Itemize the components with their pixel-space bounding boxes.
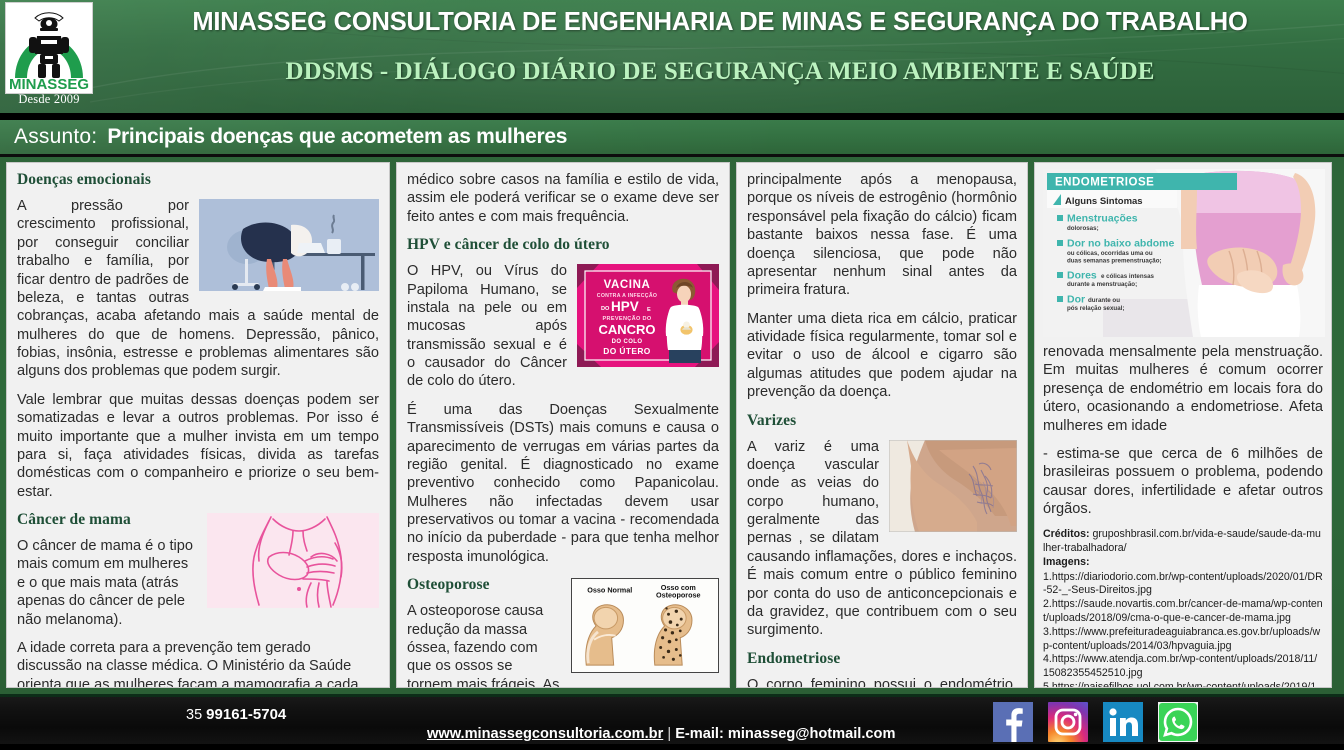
minasseg-logo: MINASSEG (5, 2, 93, 94)
svg-text:VACINA: VACINA (604, 279, 651, 291)
svg-text:Dor no baixo abdome: Dor no baixo abdome (1067, 238, 1175, 250)
column-2: médico sobre casos na família e estilo d… (396, 162, 730, 688)
svg-text:ENDOMETRIOSE: ENDOMETRIOSE (1055, 177, 1154, 189)
svg-text:CONTRA A INFECÇÃO: CONTRA A INFECÇÃO (597, 292, 657, 299)
footer-phone: 35 99161-5704 (186, 706, 286, 723)
svg-text:Alguns Sintomas: Alguns Sintomas (1065, 196, 1143, 207)
linkedin-icon[interactable] (1103, 702, 1143, 742)
col2-paragraph-3: É uma das Doenças Sexualmente Transmissí… (407, 401, 719, 566)
credits-label: Créditos: (1043, 528, 1090, 540)
col2-paragraph-1: médico sobre casos na família e estilo d… (407, 171, 719, 226)
image-source-item: 5.https://paisefilhos.uol.com.br/wp-cont… (1043, 681, 1323, 688)
svg-text:durante ou: durante ou (1088, 297, 1120, 304)
image-source-item: 2.https://saude.novartis.com.br/cancer-d… (1043, 598, 1323, 626)
svg-text:Dores: Dores (1067, 270, 1097, 282)
logo-since-label: Desde 2009 (3, 92, 95, 107)
col3-paragraph-4: O corpo feminino possui o endométrio, um… (747, 676, 1017, 688)
email-value[interactable]: minasseg@hotmail.com (728, 726, 896, 742)
images-label: Imagens: (1043, 556, 1323, 570)
column-4: ENDOMETRIOSE Alguns Sintomas Menstruaçõe… (1034, 162, 1332, 688)
varicose-veins-leg-photo (889, 440, 1017, 532)
footer-bottom-strip (0, 744, 1344, 750)
page-header: MINASSEG Desde 2009 MINASSEG CONSULTORIA… (0, 0, 1344, 113)
instagram-icon[interactable] (1048, 702, 1088, 742)
svg-text:ou cólicas, ocorridas uma ou: ou cólicas, ocorridas uma ou (1067, 250, 1153, 257)
image-source-item: 4.https://www.atendja.com.br/wp-content/… (1043, 653, 1323, 681)
svg-text:Osteoporose: Osteoporose (656, 591, 701, 600)
endometriosis-symptoms-infographic: ENDOMETRIOSE Alguns Sintomas Menstruaçõe… (1043, 169, 1325, 337)
svg-text:dolorosas;: dolorosas; (1067, 225, 1099, 232)
image-source-item: 1.https://diariodorio.com.br/wp-content/… (1043, 571, 1323, 599)
content-columns: Doenças emocionais (0, 157, 1344, 694)
col4-paragraph-2: - estima-se que cerca de 6 milhões de br… (1043, 445, 1323, 519)
svg-text:e cólicas intensas: e cólicas intensas (1101, 273, 1155, 280)
stressed-woman-at-desk-illustration (199, 199, 379, 291)
website-link[interactable]: www.minassegconsultoria.com.br (427, 726, 663, 742)
heading-hpv-cancer-colo-utero: HPV e câncer de colo do útero (407, 236, 719, 254)
ddsms-poster: MINASSEG Desde 2009 MINASSEG CONSULTORIA… (0, 0, 1344, 756)
svg-text:PREVENÇÃO DO: PREVENÇÃO DO (603, 315, 652, 322)
hpv-vaccine-poster-image: VACINA CONTRA A INFECÇÃO DO HPV E PREVEN… (577, 264, 719, 367)
logo-wordmark: MINASSEG (9, 76, 89, 92)
phone-prefix: 35 (186, 707, 202, 723)
subject-label: Assunto: (14, 125, 97, 149)
svg-text:E: E (647, 307, 651, 313)
svg-text:duas semanas premenstruação;: duas semanas premenstruação; (1067, 258, 1162, 265)
credits-line: Créditos: gruposhbrasil.com.br/vida-e-sa… (1043, 528, 1323, 556)
svg-text:DO: DO (601, 306, 610, 312)
subject-value: Principais doenças que acometem as mulhe… (107, 125, 567, 149)
image-sources-list: 1.https://diariodorio.com.br/wp-content/… (1043, 571, 1323, 688)
image-source-item: 3.https://www.prefeituradeaguiabranca.es… (1043, 626, 1323, 654)
page-footer: 35 99161-5704 www.minassegconsultoria.co… (0, 694, 1344, 750)
whatsapp-icon[interactable] (1158, 702, 1198, 742)
heading-doencas-emocionais: Doenças emocionais (17, 171, 379, 189)
header-divider (0, 113, 1344, 120)
phone-number: 99161-5704 (206, 706, 286, 723)
social-links (993, 702, 1198, 742)
svg-text:DO COLO: DO COLO (612, 339, 643, 345)
heading-endometriose: Endometriose (747, 650, 1017, 668)
column-1: Doenças emocionais (6, 162, 390, 688)
page-title: MINASSEG CONSULTORIA DE ENGENHARIA DE MI… (104, 8, 1336, 37)
col4-paragraph-1: renovada mensalmente pela menstruação. E… (1043, 343, 1323, 435)
facebook-icon[interactable] (993, 702, 1033, 742)
footer-separator: | (667, 726, 671, 742)
heading-varizes: Varizes (747, 412, 1017, 430)
col1-paragraph-4: A idade correta para a prevenção tem ger… (17, 639, 379, 688)
osteoporosis-bone-comparison-image: Osso Normal Osso com Osteoporose (571, 578, 719, 673)
svg-text:Osso Normal: Osso Normal (587, 586, 632, 595)
col3-paragraph-1: principalmente após a menopausa, porque … (747, 171, 1017, 300)
credits-block: Créditos: gruposhbrasil.com.br/vida-e-sa… (1043, 528, 1323, 688)
col3-paragraph-2: Manter uma dieta rica em cálcio, pratica… (747, 310, 1017, 402)
subject-bar: Assunto: Principais doenças que acometem… (0, 120, 1344, 157)
page-subtitle: DDSMS - DIÁLOGO DIÁRIO DE SEGURANÇA MEIO… (104, 58, 1336, 86)
svg-text:CANCRO: CANCRO (598, 322, 655, 337)
col1-paragraph-2: Vale lembrar que muitas dessas doenças p… (17, 391, 379, 501)
minasseg-logo-icon: MINASSEG (7, 4, 91, 92)
svg-text:Menstruações: Menstruações (1067, 213, 1138, 225)
svg-text:durante a menstruação;: durante a menstruação; (1067, 281, 1137, 288)
breast-self-exam-illustration (207, 513, 379, 608)
email-label: E-mail: (675, 726, 724, 742)
svg-text:DO ÚTERO: DO ÚTERO (603, 345, 650, 356)
svg-text:pós relação sexual;: pós relação sexual; (1067, 305, 1124, 312)
column-3: principalmente após a menopausa, porque … (736, 162, 1028, 688)
footer-contact: www.minassegconsultoria.com.br | E-mail:… (427, 726, 895, 742)
svg-text:Dor: Dor (1067, 294, 1085, 306)
svg-text:HPV: HPV (611, 299, 639, 314)
